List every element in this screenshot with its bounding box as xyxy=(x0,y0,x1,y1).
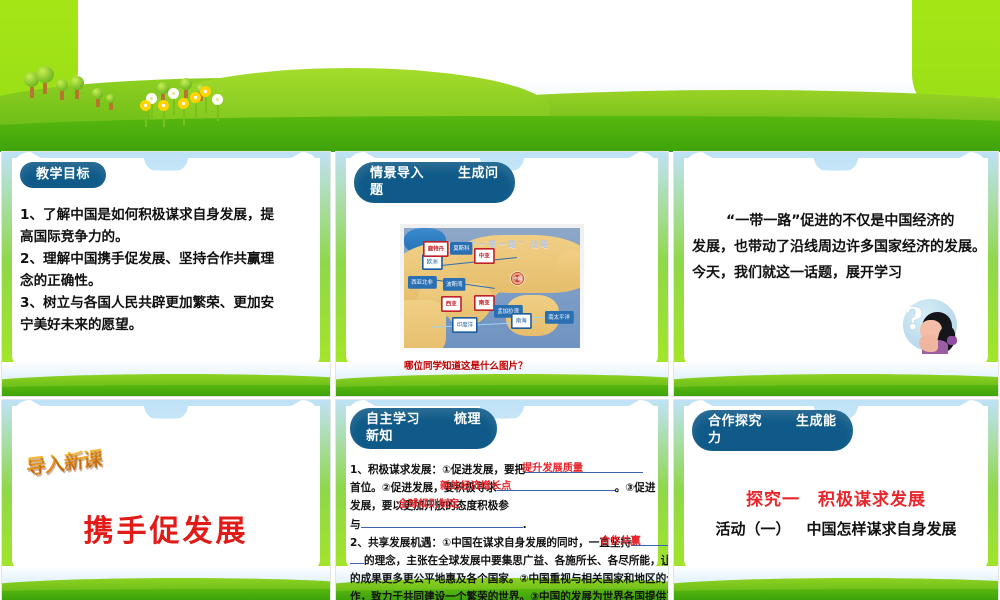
study-line-text: 1、积极谋求发展：①促进发展，要把 xyxy=(350,464,525,476)
lesson-main-title: 携手促发展 xyxy=(20,506,312,550)
teaching-goals-text: 1、了解中国是如何积极谋求自身发展，提 高国际竞争力的。 2、理解中国携手促发展… xyxy=(20,204,312,336)
study-line: 发展，要以更加开放的态度积极参 xyxy=(350,497,660,515)
map-tag: 中亚 xyxy=(474,248,494,264)
map-tag: 南太平洋 xyxy=(545,311,573,324)
study-line: 与. xyxy=(350,516,660,534)
map-tag: 波斯湾 xyxy=(443,278,466,291)
activity-question: 中国怎样谋求自身发展 xyxy=(807,520,957,538)
section-pill-teaching-goals: 教学目标 xyxy=(20,162,106,188)
activity-label: 活动（一） xyxy=(715,520,790,538)
pill-text-c: 新知 xyxy=(366,429,393,444)
map-tag: 西亚北非 xyxy=(408,276,436,289)
inquiry-label: 探究一 xyxy=(746,490,800,510)
girl-arm xyxy=(919,335,938,352)
paragraph-line: “一带一路”促进的不仅是中国经济的 xyxy=(692,208,980,234)
slide-thumbnail-scenario-intro[interactable]: 情景导入生成问 题 “一带一路” 战略 xyxy=(336,152,668,396)
inquiry-activity-line: 活动（一）中国怎样谋求自身发展 xyxy=(692,518,980,539)
belt-and-road-paragraph: “一带一路”促进的不仅是中国经济的 发展，也带动了沿线周边许多国家经济的发展。 … xyxy=(692,208,980,286)
goal-line: 3、树立与各国人民共辟更加繁荣、更加安 xyxy=(20,292,312,314)
pill-text-c: 题 xyxy=(370,183,384,198)
girl-thinking-icon: ? xyxy=(896,296,962,354)
slide-thumbnail-belt-and-road-text[interactable]: “一带一路”促进的不仅是中国经济的 发展，也带动了沿线周边许多国家经济的发展。 … xyxy=(674,152,998,396)
study-line: 的理念，主张在全球发展中要集思广益、各施所长、各尽所能，让发展 xyxy=(350,552,660,570)
slide-content: 教学目标 1、了解中国是如何积极谋求自身发展，提 高国际竞争力的。 2、理解中国… xyxy=(20,162,312,360)
section-pill-scenario-intro: 情景导入生成问 题 xyxy=(354,162,515,203)
study-line: 的成果更多更公平地惠及各个国家。②中国重视与相关国家和地区的合 xyxy=(350,570,660,588)
slide-content: 导入新课 携手促发展 xyxy=(20,410,312,564)
slide-content: 自主学习梳理 新知 1、积极谋求发展：①促进发展，要把 首位。②促进发展，要积极… xyxy=(350,408,660,600)
flower-icon xyxy=(200,86,211,113)
pill-text-a: 合作探究 xyxy=(708,414,762,429)
slide-content: “一带一路”促进的不仅是中国经济的 发展，也带动了沿线周边许多国家经济的发展。 … xyxy=(692,162,980,360)
answer-annotation: 新的经济增长点 xyxy=(440,478,511,496)
slide-thumbnail-lesson-title[interactable]: 导入新课 携手促发展 xyxy=(2,400,330,600)
map-canvas: “一带一路” 战略 中国 欧洲 莫斯科 鹿特丹 中亚 西亚北非 波斯湾 西亚 南… xyxy=(404,228,580,348)
belt-and-road-map-image: “一带一路” 战略 中国 欧洲 莫斯科 鹿特丹 中亚 西亚北非 波斯湾 西亚 南… xyxy=(400,224,584,352)
map-question-caption: 哪位同学知道这是什么图片？ xyxy=(404,358,528,372)
goal-line: 1、了解中国是如何积极谋求自身发展，提 xyxy=(20,204,312,226)
study-line-text: 作，致力于共同建设一个繁荣的世界。③中国的发展为世界各国提供了更 xyxy=(350,591,668,600)
tree-icon xyxy=(92,88,103,107)
pill-text-a: 情景导入 xyxy=(370,166,424,181)
map-tag: 南海 xyxy=(511,313,531,329)
pill-text-b: 梳理 xyxy=(454,412,481,427)
study-line-text: 与 xyxy=(350,519,361,531)
slide-footer-hills xyxy=(674,362,998,396)
slide-content: 合作探究生成能 力 探究一积极谋求发展 活动（一）中国怎样谋求自身发展 xyxy=(692,410,980,564)
slide-footer-hills xyxy=(2,362,330,396)
slide-thumbnail-teaching-goals[interactable]: 教学目标 1、了解中国是如何积极谋求自身发展，提 高国际竞争力的。 2、理解中国… xyxy=(2,152,330,396)
study-line-text: 。③促进 xyxy=(615,482,656,494)
answer-annotation: 合作共赢 xyxy=(600,533,641,551)
pill-text-b: 生成能 xyxy=(796,414,837,429)
study-line: 作，致力于共同建设一个繁荣的世界。③中国的发展为世界各国提供了更 xyxy=(350,588,660,600)
slide-content: 情景导入生成问 题 “一带一路” 战略 xyxy=(354,162,650,360)
study-line-text: . xyxy=(523,519,527,531)
answer-annotation: 全球规则制定 xyxy=(398,496,459,514)
goal-line: 宁美好未来的愿望。 xyxy=(20,314,312,336)
header-banner xyxy=(0,0,1000,152)
map-landmass-africa xyxy=(404,300,446,348)
pill-text-c: 力 xyxy=(708,431,722,446)
flower-icon xyxy=(212,94,223,121)
slide-thumbnail-self-study[interactable]: 自主学习梳理 新知 1、积极谋求发展：①促进发展，要把 首位。②促进发展，要积极… xyxy=(336,400,668,600)
slide-footer-hills xyxy=(674,566,998,600)
slide-footer-hills xyxy=(2,566,330,600)
map-tag: 西亚 xyxy=(441,296,461,312)
goal-line: 高国际竞争力的。 xyxy=(20,226,312,248)
self-study-fill-in-text: 1、积极谋求发展：①促进发展，要把 首位。②促进发展，要积极寻求。③促进 发展，… xyxy=(350,461,660,600)
flower-icon xyxy=(178,98,189,125)
study-line-text: 2、共享发展机遇：①中国在谋求自身发展的同时，一直坚持 xyxy=(350,537,631,549)
study-line-text: 的理念，主张在全球发展中要集思广益、各施所长、各尽所能，让发展 xyxy=(364,555,668,567)
map-center-label: 中国 xyxy=(511,272,524,285)
slide-thumbnail-grid: 教学目标 1、了解中国是如何积极谋求自身发展，提 高国际竞争力的。 2、理解中国… xyxy=(0,152,1000,600)
tree-icon xyxy=(36,66,54,94)
paragraph-line: 发展，也带动了沿线周边许多国家经济的发展。 xyxy=(692,234,980,260)
tree-icon xyxy=(56,79,68,100)
goal-line: 念的正确性。 xyxy=(20,270,312,292)
inquiry-red-heading: 探究一积极谋求发展 xyxy=(692,485,980,510)
study-line: 1、积极谋求发展：①促进发展，要把 xyxy=(350,461,660,479)
answer-annotation: 提升发展质量 xyxy=(522,460,583,478)
map-tag: 鹿特丹 xyxy=(423,241,449,257)
tree-icon xyxy=(106,94,115,110)
inquiry-topic: 积极谋求发展 xyxy=(818,490,926,510)
tree-icon xyxy=(70,76,84,99)
paragraph-line: 今天，我们就这一话题，展开学习 xyxy=(692,260,980,286)
pill-text-b: 生成问 xyxy=(458,166,499,181)
lesson-intro-logo: 导入新课 xyxy=(26,441,112,488)
map-center-marker-china: 中国 xyxy=(511,272,524,285)
map-tag: 南亚 xyxy=(474,295,494,311)
map-tag: 印度洋 xyxy=(452,317,478,333)
slide-thumbnail-cooperative-inquiry[interactable]: 合作探究生成能 力 探究一积极谋求发展 活动（一）中国怎样谋求自身发展 xyxy=(674,400,998,600)
goal-line: 2、理解中国携手促发展、坚持合作共赢理 xyxy=(20,248,312,270)
section-pill-cooperative-inquiry: 合作探究生成能 力 xyxy=(692,410,853,451)
girl-hair-bow xyxy=(947,336,957,345)
section-pill-self-study: 自主学习梳理 新知 xyxy=(350,408,497,449)
pill-text-a: 自主学习 xyxy=(366,412,420,427)
study-line-text: 的成果更多更公平地惠及各个国家。②中国重视与相关国家和地区的合 xyxy=(350,573,668,585)
map-tag: 莫斯科 xyxy=(450,242,473,255)
flower-icon xyxy=(140,100,151,127)
